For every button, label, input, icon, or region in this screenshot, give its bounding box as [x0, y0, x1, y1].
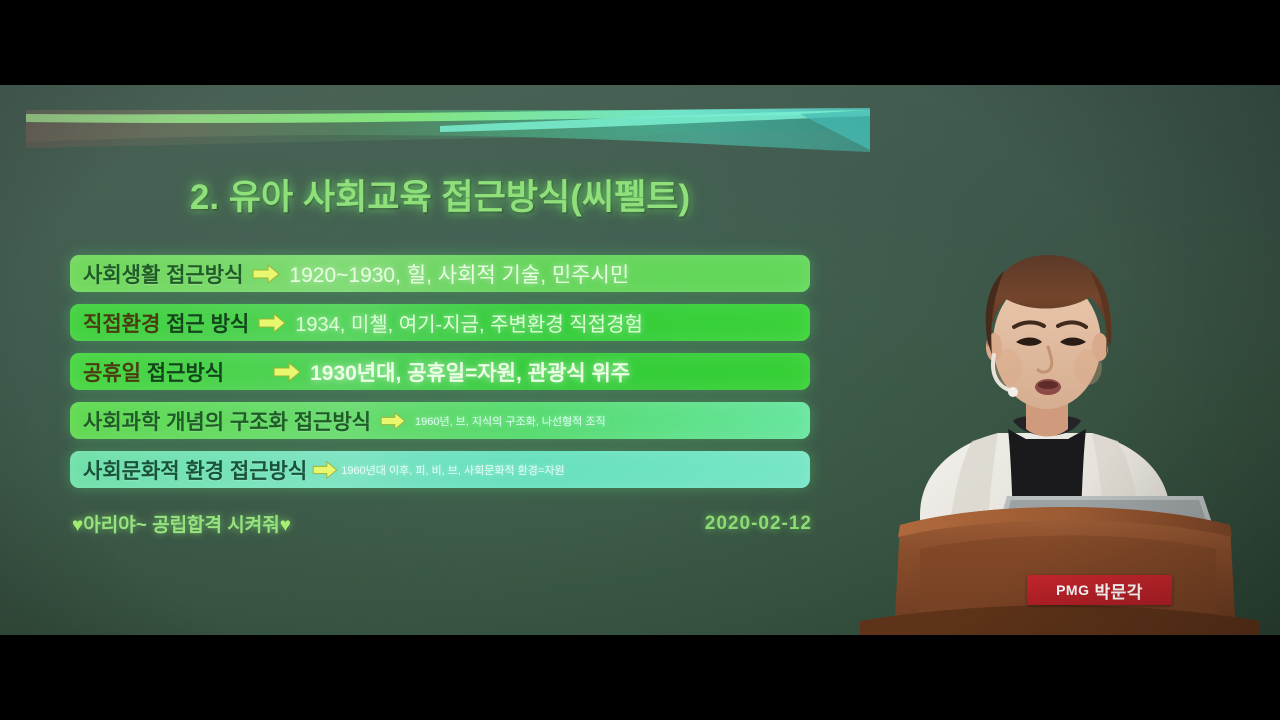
letterbox-bottom: [0, 635, 1280, 720]
heart-icon-left: ♥: [72, 515, 83, 536]
footnote-text: ♥아리야~ 공립합격 시켜줘♥: [72, 510, 291, 537]
heart-icon-right: ♥: [280, 515, 291, 536]
row-value: 1960년, 브, 지식의 구조화, 나선형적 조직: [415, 413, 606, 429]
row-label-rest: 접근 방식: [160, 313, 249, 336]
list-item: 직접환경 접근 방식 1934, 미첼, 여기-지금, 주변환경 직접경험: [70, 304, 810, 341]
approach-list: 사회생활 접근방식 1920~1930, 힐, 사회적 기술, 민주시민 직접환…: [70, 255, 810, 500]
letterbox-top: [0, 0, 1280, 85]
list-item: 사회생활 접근방식 1920~1930, 힐, 사회적 기술, 민주시민: [70, 255, 810, 292]
row-label: 사회생활 접근방식: [83, 259, 243, 289]
podium-logo-banner: PMG 박문각: [1027, 575, 1172, 605]
row-value: 1960년대 이후, 피, 비, 브, 사회문화적 환경=자원: [341, 462, 564, 478]
row-label-emphasis: 공휴일: [83, 362, 141, 385]
list-item: 사회과학 개념의 구조화 접근방식 1960년, 브, 지식의 구조화, 나선형…: [70, 402, 810, 439]
row-label: 직접환경 접근 방식: [83, 308, 249, 338]
row-value: 1920~1930, 힐, 사회적 기술, 민주시민: [289, 259, 629, 289]
pmg-logo-mark: PMG: [1056, 582, 1089, 598]
arrow-right-icon: [379, 411, 407, 431]
row-label: 사회문화적 환경 접근방식: [83, 455, 307, 485]
footnote-message: 아리야~ 공립합격 시켜줘: [83, 515, 279, 536]
page-title: 2. 유아 사회교육 접근방식(씨펠트): [0, 169, 880, 220]
video-scene: 2. 유아 사회교육 접근방식(씨펠트) 사회생활 접근방식 1920~1930…: [0, 85, 1280, 635]
podium: [860, 505, 1260, 635]
slide-footer: ♥아리야~ 공립합격 시켜줘♥ 2020-02-12: [72, 510, 812, 537]
row-label: 사회과학 개념의 구조화 접근방식: [83, 406, 371, 436]
row-label-emphasis: 직접환경: [83, 313, 160, 336]
row-label-rest: 접근방식: [141, 362, 224, 385]
arrow-right-icon: [311, 460, 339, 480]
video-frame: 2. 유아 사회교육 접근방식(씨펠트) 사회생활 접근방식 1920~1930…: [0, 0, 1280, 720]
row-label: 공휴일 접근방식: [83, 357, 224, 387]
swoosh-decoration-icon: [10, 102, 870, 164]
podium-brand-text: 박문각: [1094, 578, 1142, 603]
list-item: 공휴일 접근방식 1930년대, 공휴일=자원, 관광식 위주: [70, 353, 810, 390]
row-value: 1930년대, 공휴일=자원, 관광식 위주: [310, 357, 630, 387]
arrow-right-icon: [251, 263, 281, 285]
row-value: 1934, 미첼, 여기-지금, 주변환경 직접경험: [295, 308, 643, 337]
slide-date: 2020-02-12: [705, 513, 812, 535]
list-item: 사회문화적 환경 접근방식 1960년대 이후, 피, 비, 브, 사회문화적 …: [70, 451, 810, 488]
arrow-right-icon: [257, 312, 287, 334]
arrow-right-icon: [272, 361, 302, 383]
presentation-slide: 2. 유아 사회교육 접근방식(씨펠트) 사회생활 접근방식 1920~1930…: [0, 85, 900, 585]
